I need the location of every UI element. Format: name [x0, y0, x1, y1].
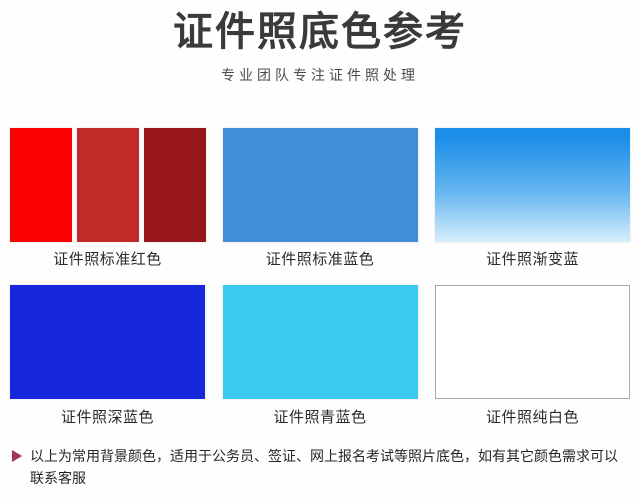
swatch-pure-white[interactable]	[435, 285, 630, 399]
footer-note: 以上为常用背景颜色，适用于公务员、签证、网上报名考试等照片底色，如有其它颜色需求…	[0, 446, 640, 491]
swatch-row-1: 证件照标准红色 证件照标准蓝色 证件照渐变蓝	[0, 128, 640, 285]
swatch-group-deep-blue[interactable]: 证件照深蓝色	[0, 285, 215, 442]
footer-note-text: 以上为常用背景颜色，适用于公务员、签证、网上报名考试等照片底色，如有其它颜色需求…	[30, 446, 624, 491]
swatch-group-cyan-blue[interactable]: 证件照青蓝色	[215, 285, 425, 442]
swatch-label-standard-blue: 证件照标准蓝色	[266, 248, 375, 269]
swatch-group-standard-red[interactable]: 证件照标准红色	[0, 128, 215, 285]
swatch-standard-red-2[interactable]	[77, 128, 139, 242]
swatch-row-2: 证件照深蓝色 证件照青蓝色 证件照纯白色	[0, 285, 640, 442]
swatch-deep-blue[interactable]	[10, 285, 205, 399]
color-swatch-grid: 证件照标准红色 证件照标准蓝色 证件照渐变蓝 证件照深	[0, 128, 640, 442]
swatch-label-standard-red: 证件照标准红色	[53, 248, 162, 269]
page-subtitle: 专业团队专注证件照处理	[0, 65, 640, 85]
swatch-wrap-pure-white	[425, 285, 640, 399]
swatch-standard-red-3[interactable]	[144, 128, 206, 242]
swatch-wrap-gradient-blue	[425, 128, 640, 242]
swatch-standard-red-1[interactable]	[10, 128, 72, 242]
swatch-wrap-standard-red	[0, 128, 215, 242]
swatch-wrap-deep-blue	[0, 285, 215, 399]
swatch-standard-blue[interactable]	[223, 128, 418, 242]
swatch-group-standard-blue[interactable]: 证件照标准蓝色	[215, 128, 425, 285]
swatch-label-deep-blue: 证件照深蓝色	[61, 406, 154, 427]
triangle-bullet-icon	[12, 450, 22, 462]
swatch-group-gradient-blue[interactable]: 证件照渐变蓝	[425, 128, 640, 285]
swatch-gradient-blue[interactable]	[435, 128, 630, 242]
swatch-label-pure-white: 证件照纯白色	[486, 406, 579, 427]
swatch-cyan-blue[interactable]	[223, 285, 418, 399]
poster-page: 证件照底色参考 专业团队专注证件照处理 证件照标准红色 证件照标准蓝色	[0, 0, 640, 499]
swatch-group-pure-white[interactable]: 证件照纯白色	[425, 285, 640, 442]
swatch-wrap-standard-blue	[215, 128, 425, 242]
swatch-label-cyan-blue: 证件照青蓝色	[273, 406, 366, 427]
swatch-wrap-cyan-blue	[215, 285, 425, 399]
page-title: 证件照底色参考	[0, 8, 640, 57]
header: 证件照底色参考 专业团队专注证件照处理	[0, 0, 640, 85]
swatch-label-gradient-blue: 证件照渐变蓝	[486, 248, 579, 269]
